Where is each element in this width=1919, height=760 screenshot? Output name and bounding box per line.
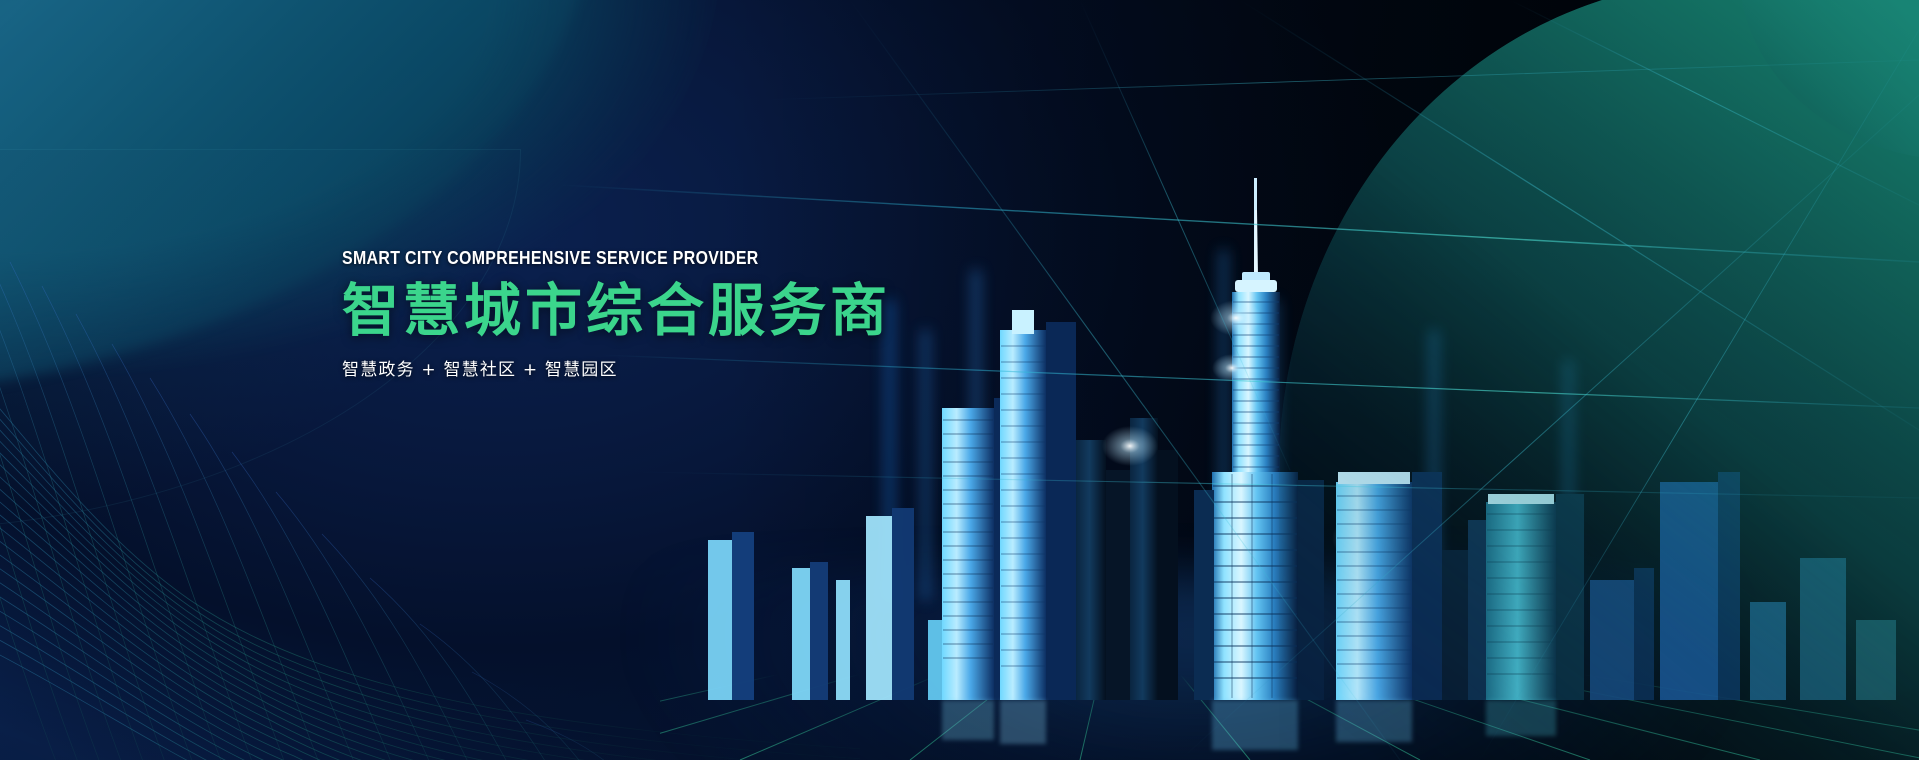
hero-text-block: SMART CITY COMPREHENSIVE SERVICE PROVIDE… <box>342 248 1102 381</box>
hero-headline: 智慧城市综合服务商 <box>342 280 1102 344</box>
hero-eyebrow: SMART CITY COMPREHENSIVE SERVICE PROVIDE… <box>342 248 996 268</box>
hero-subline: 智慧政务 + 智慧社区 + 智慧园区 <box>342 360 1102 380</box>
hero-banner: SMART CITY COMPREHENSIVE SERVICE PROVIDE… <box>0 0 1919 760</box>
